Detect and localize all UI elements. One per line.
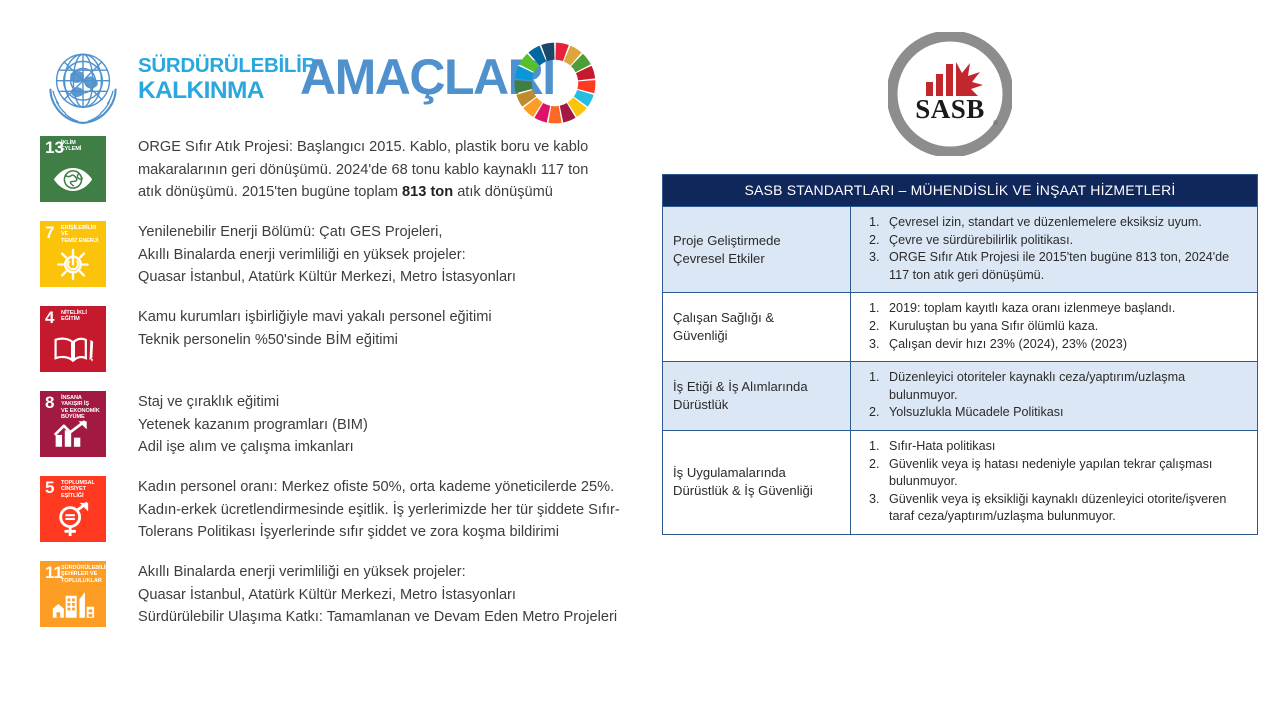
sdg-row-text: Staj ve çıraklık eğitimi Yetenek kazanım…: [138, 391, 660, 459]
decent-work-growth-chart-icon: [40, 413, 106, 455]
sasb-table-header: SASB STANDARTLARI – MÜHENDİSLİK VE İNŞAA…: [663, 175, 1257, 207]
table-item-list: Düzenleyici otoriteler kaynaklı ceza/yap…: [857, 369, 1247, 422]
sdg-badge-title: İKLİM EYLEMİ: [61, 140, 103, 153]
table-cell-topic: Proje Geliştirmede Çevresel Etkiler: [663, 207, 851, 292]
climate-eye-globe-icon: [40, 158, 106, 200]
sdg-row: 4NİTELİKLİ EĞİTİMKamu kurumları işbirliğ…: [40, 306, 660, 351]
sdg-row-text: Kadın personel oranı: Merkez ofiste 50%,…: [138, 476, 638, 544]
sdg-row: 7ERİŞİLEBİLİR VE TEMİZ ENERJİYenilenebil…: [40, 221, 660, 289]
sdg-row-text: Yenilenebilir Enerji Bölümü: Çatı GES Pr…: [138, 221, 660, 289]
list-item: Çevresel izin, standart ve düzenlemelere…: [883, 214, 1247, 232]
logo-line1: SÜRDÜRÜLEBİLİR: [138, 54, 316, 77]
table-item-list: 2019: toplam kayıtlı kaza oranı izlenmey…: [857, 300, 1247, 353]
sasb-seal-logo: SUSTAINABILITY ACCOUNTING STANDARDS BOAR…: [888, 32, 1012, 156]
list-item: Çevre ve sürdürebilirlik politikası.: [883, 232, 1247, 250]
sdg-row-text: Akıllı Binalarda enerji verimliliği en y…: [138, 561, 660, 629]
logo-small-text: SÜRDÜRÜLEBİLİR KALKINMA: [138, 54, 316, 104]
sdg-row: 8İNSANA YAKIŞIR İŞ VE EKONOMİK BÜYÜMESta…: [40, 391, 660, 459]
list-item: Çalışan devir hızı 23% (2024), 23% (2023…: [883, 336, 1247, 354]
table-cell-topic: İş Etiği & İş Alımlarında Dürüstlük: [663, 362, 851, 430]
sdg-row: 13İKLİM EYLEMİORGE Sıfır Atık Projesi: B…: [40, 136, 660, 204]
sdg-row: 11SÜRDÜRÜLEBİLİR ŞEHİRLER VE TOPLULUKLAR…: [40, 561, 660, 629]
logo-line2: KALKINMA: [138, 78, 316, 104]
table-cell-topic: İş Uygulamalarında Dürüstlük & İş Güvenl…: [663, 431, 851, 534]
sustainable-cities-buildings-icon: [40, 583, 106, 625]
clean-energy-sun-icon: [40, 243, 106, 285]
sasb-standards-table: SASB STANDARTLARI – MÜHENDİSLİK VE İNŞAA…: [662, 174, 1258, 535]
sdg-highlight-value: 813 ton: [402, 184, 453, 200]
table-cell-items: Çevresel izin, standart ve düzenlemelere…: [851, 207, 1257, 292]
quality-education-book-icon: [40, 328, 106, 370]
sdg-badge-7: 7ERİŞİLEBİLİR VE TEMİZ ENERJİ: [40, 221, 106, 287]
sdg-badge-title: NİTELİKLİ EĞİTİM: [61, 310, 103, 323]
sdg-wheel-segment: [548, 106, 561, 124]
sdg-row-text: ORGE Sıfır Atık Projesi: Başlangıcı 2015…: [138, 136, 608, 204]
sdg-row-text: Kamu kurumları işbirliğiyle mavi yakalı …: [138, 306, 660, 351]
sdg-badge-13: 13İKLİM EYLEMİ: [40, 136, 106, 202]
table-row: İş Etiği & İş Alımlarında DürüstlükDüzen…: [663, 362, 1257, 431]
table-cell-items: Düzenleyici otoriteler kaynaklı ceza/yap…: [851, 362, 1257, 430]
sdg-badge-title: TOPLUMSAL CİNSİYET EŞİTLİĞİ: [61, 480, 103, 499]
table-row: Çalışan Sağlığı & Güvenliği2019: toplam …: [663, 293, 1257, 362]
logo-wordmark: SÜRDÜRÜLEBİLİR KALKINMA AMAÇLARI: [138, 46, 538, 126]
sdg-colour-wheel-icon: [512, 40, 598, 126]
sdg-badge-title: ERİŞİLEBİLİR VE TEMİZ ENERJİ: [61, 225, 103, 244]
list-item: Sıfır-Hata politikası: [883, 438, 1247, 456]
sdg-badge-11: 11SÜRDÜRÜLEBİLİR ŞEHİRLER VE TOPLULUKLAR: [40, 561, 106, 627]
sdg-badge-title: SÜRDÜRÜLEBİLİR ŞEHİRLER VE TOPLULUKLAR: [61, 565, 103, 584]
sdg-badge-5: 5TOPLUMSAL CİNSİYET EŞİTLİĞİ: [40, 476, 106, 542]
sasb-table-body: Proje Geliştirmede Çevresel EtkilerÇevre…: [663, 207, 1257, 534]
list-item: Güvenlik veya iş hatası nedeniyle yapıla…: [883, 456, 1247, 491]
table-cell-items: Sıfır-Hata politikasıGüvenlik veya iş ha…: [851, 431, 1257, 534]
table-item-list: Çevresel izin, standart ve düzenlemelere…: [857, 214, 1247, 284]
list-item: 2019: toplam kayıtlı kaza oranı izlenmey…: [883, 300, 1247, 318]
sdg-badge-number: 5: [45, 479, 54, 496]
table-cell-items: 2019: toplam kayıtlı kaza oranı izlenmey…: [851, 293, 1257, 361]
list-item: Kuruluştan bu yana Sıfır ölümlü kaza.: [883, 318, 1247, 336]
list-item: ORGE Sıfır Atık Projesi ile 2015'ten bug…: [883, 249, 1247, 284]
table-row: İş Uygulamalarında Dürüstlük & İş Güvenl…: [663, 431, 1257, 534]
un-emblem-icon: [38, 42, 128, 130]
sdg-badge-number: 8: [45, 394, 54, 411]
sdg-row: 5TOPLUMSAL CİNSİYET EŞİTLİĞİKadın person…: [40, 476, 660, 544]
table-item-list: Sıfır-Hata politikasıGüvenlik veya iş ha…: [857, 438, 1247, 526]
list-item: Düzenleyici otoriteler kaynaklı ceza/yap…: [883, 369, 1247, 404]
list-item: Güvenlik veya iş eksikliği kaynaklı düze…: [883, 491, 1247, 526]
sdg-badge-number: 4: [45, 309, 54, 326]
sdg-badge-number: 7: [45, 224, 54, 241]
svg-text:SASB: SASB: [915, 94, 985, 124]
svg-text:®: ®: [993, 120, 998, 127]
table-row: Proje Geliştirmede Çevresel EtkilerÇevre…: [663, 207, 1257, 293]
table-cell-topic: Çalışan Sağlığı & Güvenliği: [663, 293, 851, 361]
gender-equality-symbol-icon: [40, 498, 106, 540]
sdg-badge-4: 4NİTELİKLİ EĞİTİM: [40, 306, 106, 372]
sdg-badge-8: 8İNSANA YAKIŞIR İŞ VE EKONOMİK BÜYÜME: [40, 391, 106, 457]
list-item: Yolsuzlukla Mücadele Politikası: [883, 404, 1247, 422]
